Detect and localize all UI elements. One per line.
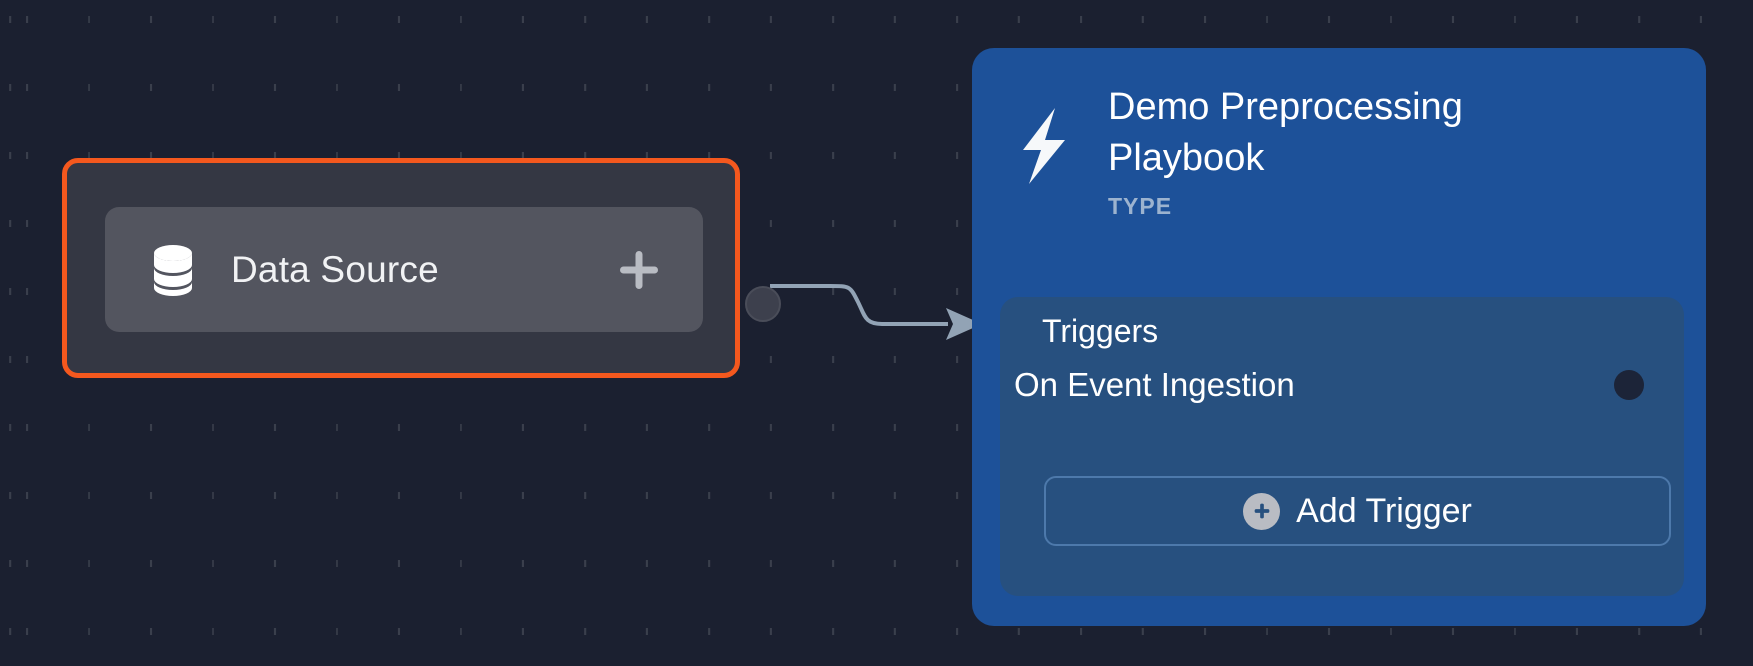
database-icon [147,242,199,298]
triggers-panel: Triggers On Event Ingestion Add Trigger [1000,297,1684,596]
triggers-heading: Triggers [1000,297,1684,350]
trigger-list-item[interactable]: On Event Ingestion [1000,350,1684,404]
plus-icon[interactable] [613,244,665,296]
playbook-title-block: Demo Preprocessing Playbook TYPE [1108,76,1508,220]
data-source-pill[interactable]: Data Source [105,207,703,332]
flow-canvas[interactable]: Data Source Demo Preprocessing Playbook … [0,0,1753,666]
lightning-bolt-icon [1000,98,1086,194]
trigger-name: On Event Ingestion [1014,366,1614,404]
playbook-card[interactable]: Demo Preprocessing Playbook TYPE Trigger… [972,48,1706,626]
edge-data-source-to-playbook [770,250,990,370]
data-source-node[interactable]: Data Source [62,158,740,378]
add-trigger-button[interactable]: Add Trigger [1044,476,1671,546]
add-trigger-label: Add Trigger [1296,492,1472,531]
plus-circle-icon [1243,493,1280,530]
playbook-title: Demo Preprocessing Playbook [1108,82,1508,183]
playbook-type-label: TYPE [1108,193,1508,220]
edge-path [770,286,948,324]
data-source-label: Data Source [231,249,613,291]
data-source-output-handle[interactable] [745,286,781,322]
playbook-header: Demo Preprocessing Playbook TYPE [972,48,1706,220]
status-dot [1614,370,1644,400]
